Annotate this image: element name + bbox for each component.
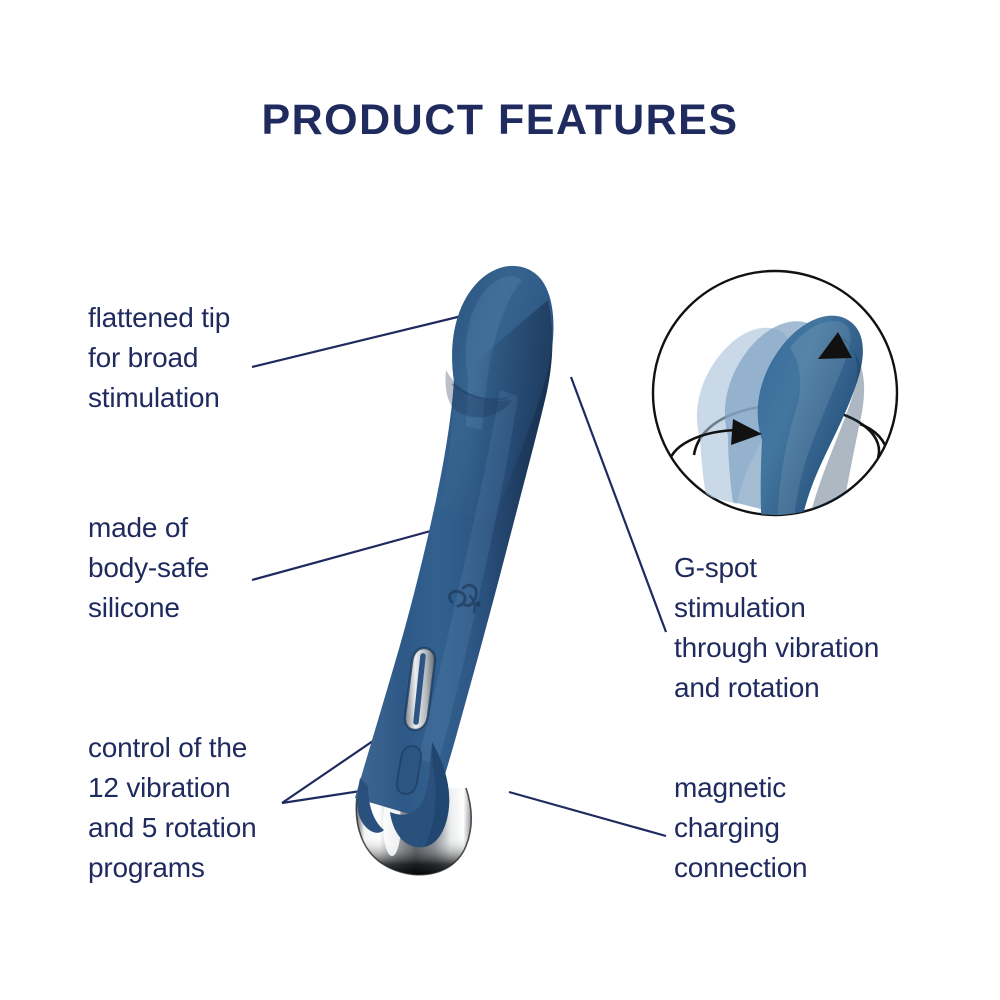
diagram-artwork xyxy=(0,0,1000,1000)
product-illustration xyxy=(350,266,560,875)
leader-line-g-spot xyxy=(571,377,666,632)
leader-line-flattened-tip xyxy=(252,314,470,367)
shaft-left-highlight xyxy=(350,380,402,820)
product-features-diagram: PRODUCT FEATURES flattened tip for broad… xyxy=(0,0,1000,1000)
rotation-inset xyxy=(653,271,897,560)
leader-line-magnetic-charging xyxy=(509,792,666,836)
